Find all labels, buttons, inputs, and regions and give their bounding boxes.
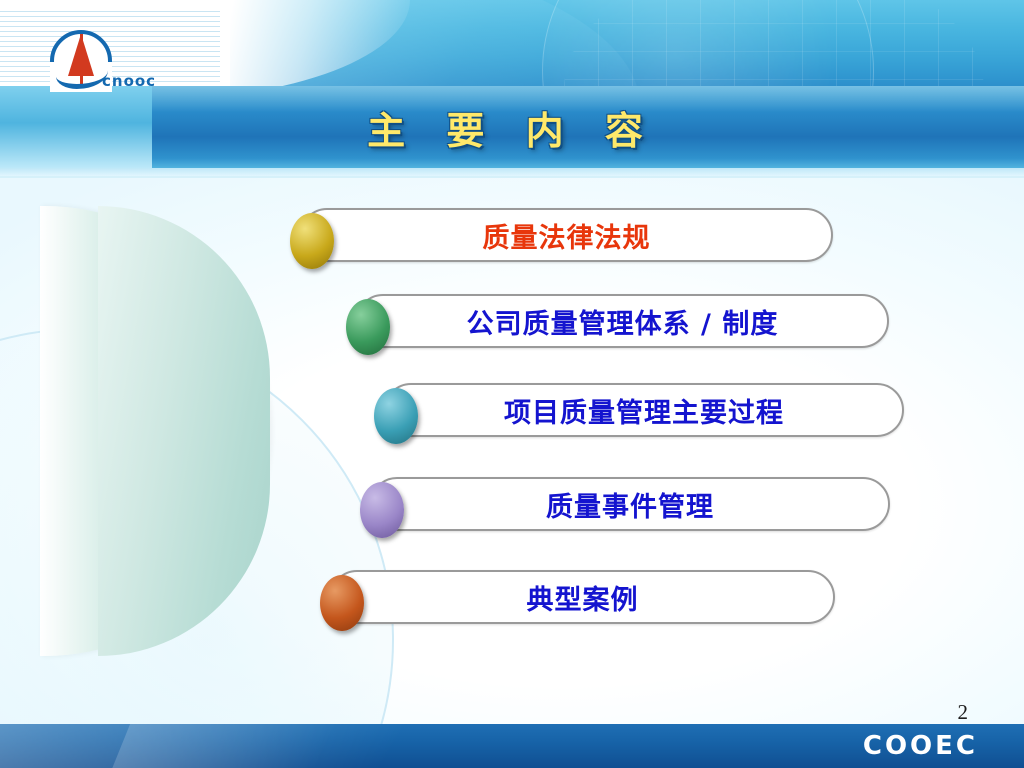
footer-swoosh-decoration-2 (106, 724, 494, 768)
banner-bottom-strip (0, 168, 1024, 176)
logo-wordmark: cnooc (102, 72, 156, 90)
bullet-orange-icon (320, 575, 364, 631)
content-pill[interactable]: 质量法律法规 (300, 208, 833, 262)
list-item-label: 典型案例 (527, 578, 639, 617)
slide-header-banner: cnooc 主 要 内 容 (0, 0, 1024, 176)
bullet-yellow-icon (290, 213, 334, 269)
list-item-label: 质量事件管理 (546, 485, 714, 524)
content-pill[interactable]: 质量事件管理 (370, 477, 890, 531)
list-item-label: 质量法律法规 (483, 216, 651, 255)
page-title: 主 要 内 容 (0, 100, 1024, 155)
content-pill[interactable]: 项目质量管理主要过程 (384, 383, 904, 437)
footer-brand-wordmark: COOEC (863, 731, 978, 761)
list-item-label: 公司质量管理体系 / 制度 (467, 302, 779, 341)
list-item-label: 项目质量管理主要过程 (504, 391, 784, 430)
content-pill[interactable]: 典型案例 (330, 570, 835, 624)
slide-footer: COOEC (0, 724, 1024, 768)
bullet-green-icon (346, 299, 390, 355)
cnooc-logo: cnooc (42, 28, 160, 98)
page-number: 2 (958, 700, 969, 725)
bullet-teal-icon (374, 388, 418, 444)
presentation-slide: cnooc 主 要 内 容 质量法律法规 公司质量管理体系 / 制度 项目质量管… (0, 0, 1024, 768)
bullet-purple-icon (360, 482, 404, 538)
content-pill[interactable]: 公司质量管理体系 / 制度 (356, 294, 889, 348)
